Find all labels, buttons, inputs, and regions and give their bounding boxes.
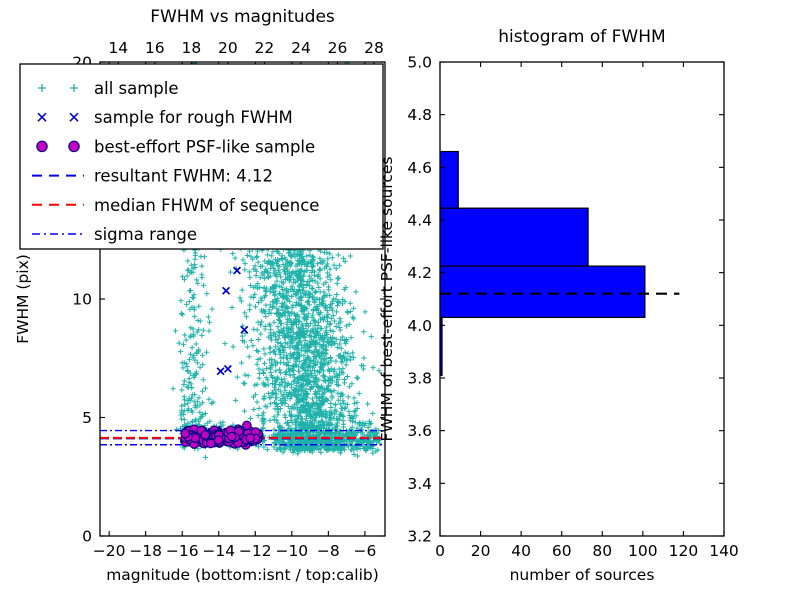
psf-point (214, 436, 222, 444)
left-yaxis-label: FWHM (pix) (14, 254, 32, 344)
psf-point (228, 432, 236, 440)
left-xtick-label-top: 28 (364, 39, 384, 57)
left-xtick-label-top: 26 (328, 39, 348, 57)
right-xtick-label: 20 (471, 542, 491, 560)
psf-point (246, 434, 254, 442)
left-xtick-label-bottom: −8 (317, 542, 340, 560)
left-ytick-label: 10 (72, 291, 92, 309)
right-ytick-label: 4.4 (407, 212, 432, 230)
left-xtick-label-bottom: −12 (239, 542, 272, 560)
legend-entry-label: all sample (94, 79, 179, 98)
legend-entry-label: best-effort PSF-like sample (94, 137, 315, 156)
psf-point (243, 421, 251, 429)
right-ytick-label: 3.4 (407, 475, 432, 493)
left-xtick-label-bottom: −20 (93, 542, 126, 560)
left-ytick-label: 5 (82, 409, 92, 427)
left-xtick-label-bottom: −14 (202, 542, 235, 560)
figure-canvas: −20−18−16−14−12−10−8−6141618202224262805… (0, 0, 800, 600)
legend-entry-label: sample for rough FWHM (94, 108, 293, 127)
psf-point (207, 439, 215, 447)
right-ytick-label: 3.8 (407, 370, 432, 388)
left-xtick-label-bottom: −18 (129, 542, 162, 560)
right-xtick-label: 60 (552, 542, 572, 560)
legend-entry-label: resultant FWHM: 4.12 (94, 167, 273, 186)
left-xtick-label-bottom: −16 (166, 542, 199, 560)
left-xtick-label-top: 24 (291, 39, 311, 57)
right-ytick-label: 4.6 (407, 159, 432, 177)
right-ytick-label: 4.0 (407, 317, 432, 335)
right-panel-histogram: 0204060801001201403.23.43.63.84.04.24.44… (378, 27, 739, 584)
legend: all samplesample for rough FWHMbest-effo… (20, 64, 383, 249)
legend-entry-label: sigma range (94, 225, 197, 244)
right-ytick-label: 3.2 (407, 528, 432, 546)
legend-marker-circle-icon (37, 141, 47, 151)
left-xtick-label-top: 20 (218, 39, 238, 57)
histogram-bar (440, 266, 645, 317)
right-xaxis-label: number of sources (510, 566, 655, 584)
right-ytick-label: 4.8 (407, 106, 432, 124)
left-xtick-label-top: 16 (145, 39, 165, 57)
left-xtick-label-top: 14 (108, 39, 128, 57)
right-xtick-label: 0 (435, 542, 445, 560)
right-panel-title: histogram of FWHM (498, 27, 665, 47)
right-yaxis-label: FWHM of best-effort PSF-like sources (378, 156, 396, 441)
left-ytick-label: 0 (82, 528, 92, 546)
right-ytick-label: 4.2 (407, 264, 432, 282)
legend-marker-circle-icon (69, 141, 79, 151)
psf-point (201, 431, 209, 439)
right-xtick-label: 100 (628, 542, 658, 560)
left-xtick-label-bottom: −6 (353, 542, 376, 560)
histogram-bar (440, 152, 458, 209)
left-panel-title: FWHM vs magnitudes (150, 7, 335, 27)
left-xtick-label-top: 18 (181, 39, 201, 57)
legend-entry-label: median FHWM of sequence (94, 196, 319, 215)
right-xtick-label: 120 (669, 542, 699, 560)
right-xtick-label: 80 (592, 542, 612, 560)
histogram-bar (440, 208, 588, 266)
right-xtick-label: 40 (511, 542, 531, 560)
right-xtick-label: 140 (709, 542, 739, 560)
left-xtick-label-bottom: −10 (275, 542, 308, 560)
left-xaxis-label: magnitude (bottom:isnt / top:calib) (106, 566, 379, 584)
left-xtick-label-top: 22 (255, 39, 275, 57)
matplotlib-figure: −20−18−16−14−12−10−8−6141618202224262805… (0, 0, 800, 600)
right-ytick-label: 5.0 (407, 54, 432, 72)
right-ytick-label: 3.6 (407, 422, 432, 440)
psf-point (181, 430, 189, 438)
